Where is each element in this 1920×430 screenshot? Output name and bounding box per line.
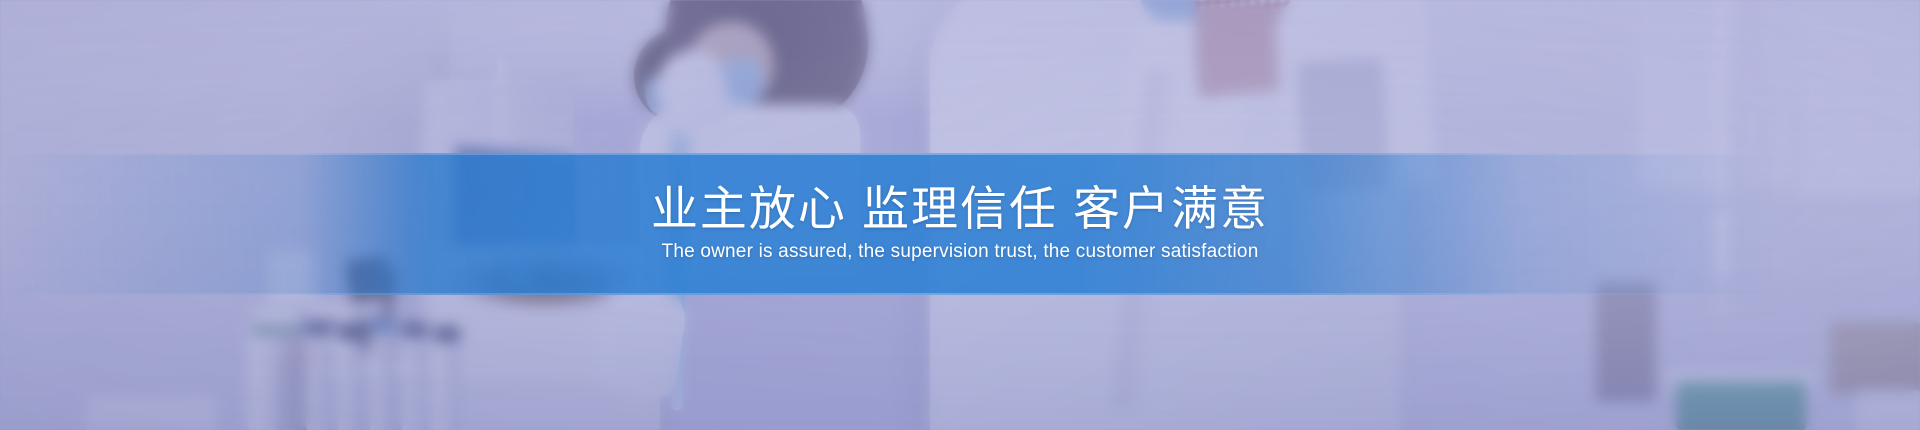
headline-band (0, 153, 1920, 295)
headline-band-bottom-edge (0, 293, 1920, 295)
hero-banner: 业主放心 监理信任 客户满意 The owner is assured, the… (0, 0, 1920, 430)
headline-band-top-edge (0, 153, 1920, 155)
